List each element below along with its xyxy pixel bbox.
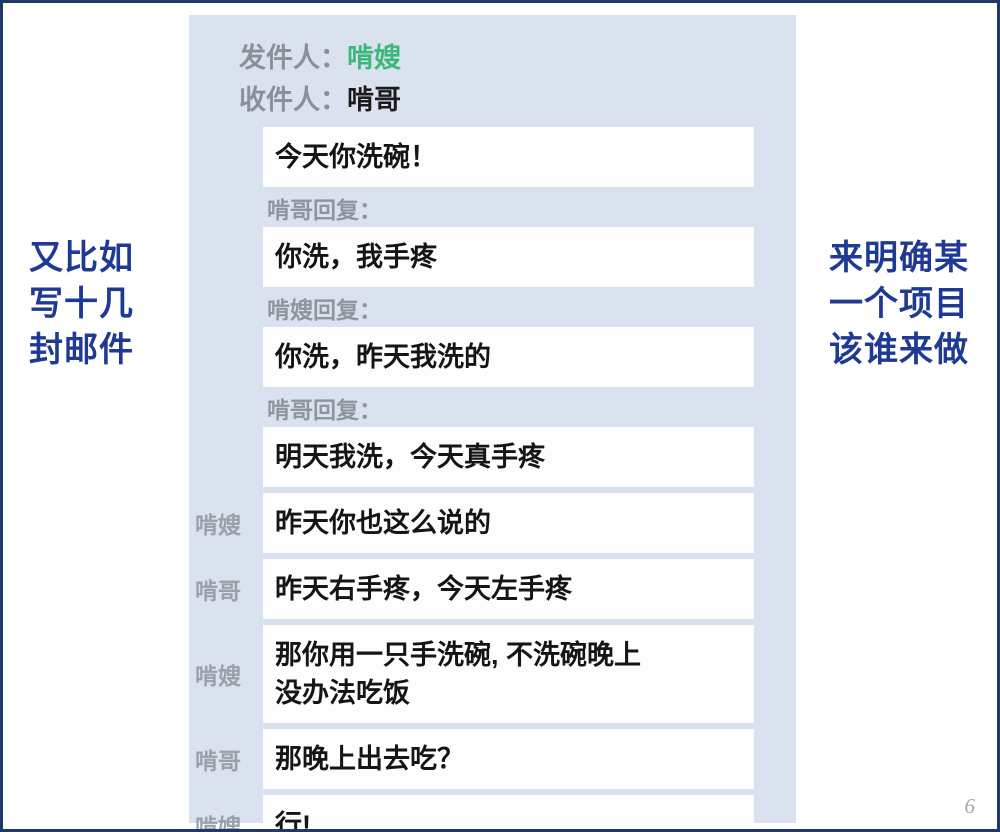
- message-row: 啃哥那晚上出去吃？: [189, 729, 796, 789]
- message-bubble: 昨天右手疼，今天左手疼: [263, 559, 754, 619]
- message-sender: 啃嫂: [189, 657, 263, 691]
- message-bubble: 行!: [263, 795, 754, 832]
- message-bubble: 昨天你也这么说的: [263, 493, 754, 553]
- caption-left: 又比如 写十几 封邮件: [29, 235, 134, 373]
- reply-label: 啃哥回复：: [189, 193, 796, 227]
- mail-from-value: 啃嫂: [347, 37, 401, 79]
- message-row: 你洗，昨天我洗的: [189, 327, 796, 387]
- message-sender: 啃嫂: [189, 506, 263, 540]
- reply-label: 啃嫂回复：: [189, 293, 796, 327]
- page-number: 6: [965, 794, 976, 819]
- slide-canvas: 又比如 写十几 封邮件 发件人： 啃嫂 收件人： 啃哥 今天你洗碗！啃哥回复：你…: [0, 0, 1000, 832]
- message-row: 明天我洗，今天真手疼: [189, 427, 796, 487]
- message-row: 啃嫂行!: [189, 795, 796, 832]
- conversation-list: 今天你洗碗！啃哥回复：你洗，我手疼啃嫂回复：你洗，昨天我洗的啃哥回复：明天我洗，…: [189, 127, 796, 832]
- caption-right: 来明确某 一个项目 该谁来做: [829, 235, 969, 373]
- mail-from-row: 发件人： 啃嫂: [189, 37, 796, 79]
- mail-to-row: 收件人： 啃哥: [189, 79, 796, 121]
- message-bubble: 那你用一只手洗碗, 不洗碗晚上 没办法吃饭: [263, 625, 754, 723]
- mail-to-label: 收件人：: [239, 79, 347, 121]
- message-sender: 啃哥: [189, 572, 263, 606]
- mail-from-label: 发件人：: [239, 37, 347, 79]
- message-bubble: 你洗，昨天我洗的: [263, 327, 754, 387]
- mail-thread-panel: 发件人： 啃嫂 收件人： 啃哥 今天你洗碗！啃哥回复：你洗，我手疼啃嫂回复：你洗…: [189, 15, 796, 823]
- message-row: 啃哥昨天右手疼，今天左手疼: [189, 559, 796, 619]
- message-sender: 啃嫂: [189, 808, 263, 832]
- mail-header: 发件人： 啃嫂 收件人： 啃哥: [189, 15, 796, 121]
- message-row: 你洗，我手疼: [189, 227, 796, 287]
- message-bubble: 明天我洗，今天真手疼: [263, 427, 754, 487]
- message-row: 啃嫂那你用一只手洗碗, 不洗碗晚上 没办法吃饭: [189, 625, 796, 723]
- mail-to-value: 啃哥: [347, 79, 401, 121]
- message-bubble: 今天你洗碗！: [263, 127, 754, 187]
- message-row: 今天你洗碗！: [189, 127, 796, 187]
- message-row: 啃嫂昨天你也这么说的: [189, 493, 796, 553]
- message-bubble: 那晚上出去吃？: [263, 729, 754, 789]
- message-sender: 啃哥: [189, 742, 263, 776]
- reply-label: 啃哥回复：: [189, 393, 796, 427]
- message-bubble: 你洗，我手疼: [263, 227, 754, 287]
